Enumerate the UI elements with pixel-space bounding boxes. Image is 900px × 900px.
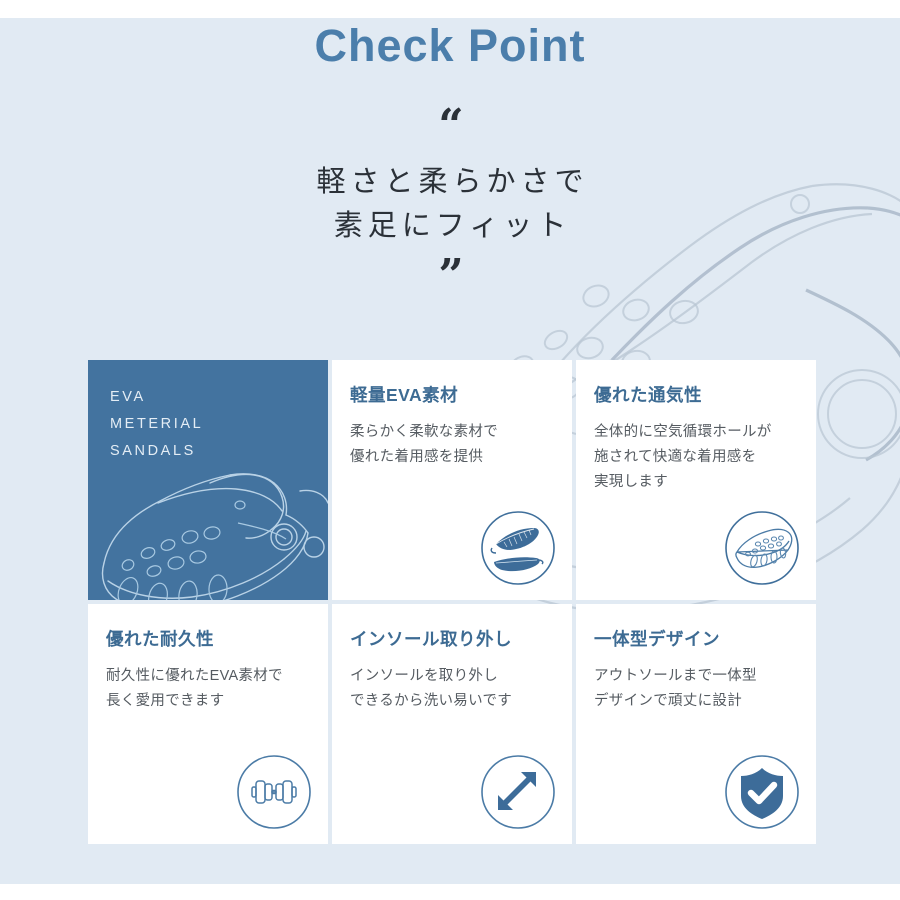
quote-block: “ 軽さと柔らかさで 素足にフィット ”: [0, 104, 900, 298]
perforated-shoe-icon: [724, 510, 800, 586]
card-title: 優れた通気性: [594, 382, 800, 407]
quote-line-2: 素足にフィット: [0, 204, 900, 248]
desc-line-1: 全体的に空気循環ホールが: [594, 424, 772, 440]
card-title: 一体型デザイン: [594, 626, 800, 651]
card-title: 軽量EVA素材: [350, 382, 556, 407]
desc-line-1: インソールを取り外し: [350, 668, 498, 684]
card-description: 全体的に空気循環ホールが 施されて快適な着用感を 実現します: [594, 420, 800, 495]
card-title: 優れた耐久性: [106, 626, 312, 651]
card-title: インソール取り外し: [350, 626, 556, 651]
shield-check-icon: [724, 754, 800, 830]
desc-line-1: 柔らかく柔軟な素材で: [350, 424, 498, 440]
desc-line-2: 施されて快適な着用感を: [594, 449, 756, 465]
feather-icon: [480, 510, 556, 586]
promo-text: EVA METERIAL SANDALS: [110, 384, 328, 464]
promo-line-2: METERIAL: [110, 411, 328, 438]
promo-line-1: EVA: [110, 384, 328, 411]
quote-close-mark: ”: [0, 254, 900, 298]
card-description: 柔らかく柔軟な素材で 優れた着用感を提供: [350, 420, 556, 470]
dumbbell-icon: [236, 754, 312, 830]
desc-line-1: 耐久性に優れたEVA素材で: [106, 668, 283, 684]
card-description: アウトソールまで一体型 デザインで頑丈に設計: [594, 664, 800, 714]
card-description: 耐久性に優れたEVA素材で 長く愛用できます: [106, 664, 312, 714]
desc-line-2: 長く愛用できます: [106, 693, 224, 709]
check-point-infographic: Check Point “ 軽さと柔らかさで 素足にフィット ” EVA MET…: [0, 0, 900, 900]
desc-line-2: 優れた着用感を提供: [350, 449, 483, 465]
feature-card-durability: 優れた耐久性 耐久性に優れたEVA素材で 長く愛用できます: [88, 604, 328, 844]
feature-card-breathability: 優れた通気性 全体的に空気循環ホールが 施されて快適な着用感を 実現します: [576, 360, 816, 600]
card-description: インソールを取り外し できるから洗い易いです: [350, 664, 556, 714]
desc-line-3: 実現します: [594, 474, 668, 490]
feature-card-grid: EVA METERIAL SANDALS: [88, 360, 816, 844]
page-title: Check Point: [0, 20, 900, 72]
feature-card-lightweight-eva: 軽量EVA素材 柔らかく柔軟な素材で 優れた着用感を提供: [332, 360, 572, 600]
quote-text: 軽さと柔らかさで 素足にフィット: [0, 160, 900, 248]
feature-card-removable-insole: インソール取り外し インソールを取り外し できるから洗い易いです: [332, 604, 572, 844]
quote-open-mark: “: [0, 104, 900, 142]
desc-line-2: できるから洗い易いです: [350, 693, 512, 709]
desc-line-1: アウトソールまで一体型: [594, 668, 757, 684]
feature-card-one-piece-design: 一体型デザイン アウトソールまで一体型 デザインで頑丈に設計: [576, 604, 816, 844]
promo-line-3: SANDALS: [110, 438, 328, 465]
double-arrow-icon: [480, 754, 556, 830]
quote-line-1: 軽さと柔らかさで: [0, 160, 900, 204]
promo-card-eva-material-sandals: EVA METERIAL SANDALS: [88, 360, 328, 600]
desc-line-2: デザインで頑丈に設計: [594, 693, 742, 709]
